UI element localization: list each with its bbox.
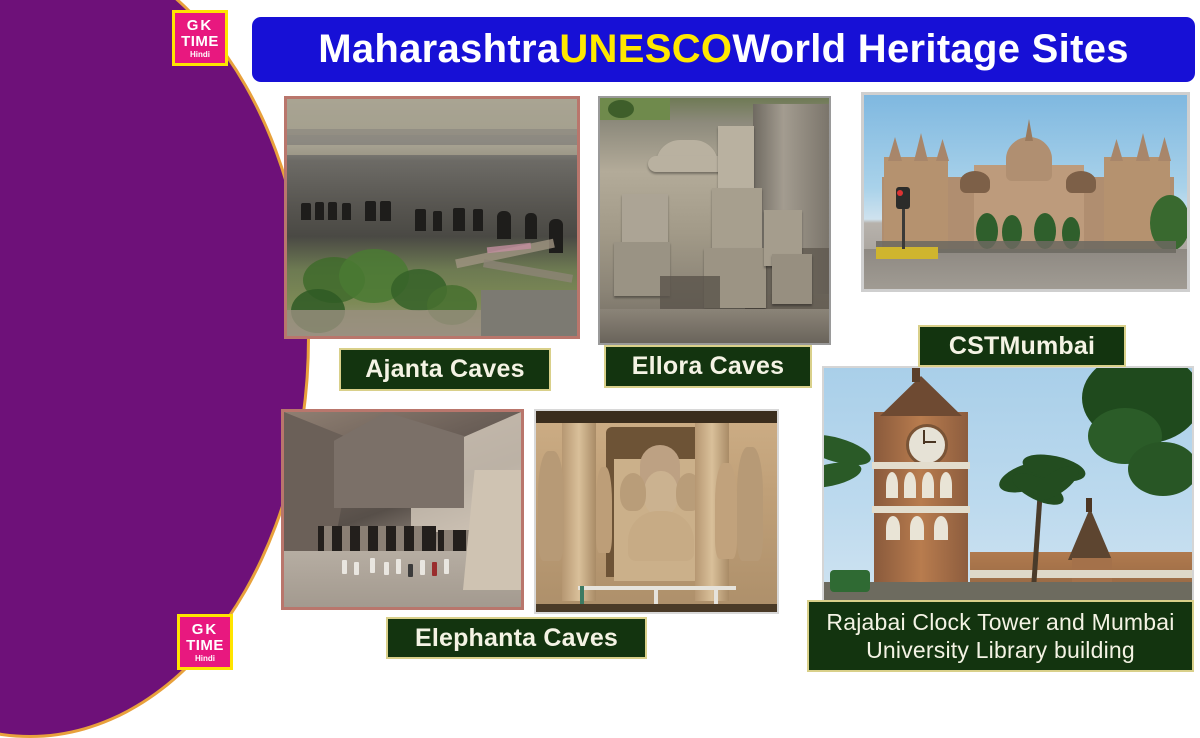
page-title-banner: Maharashtra UNESCO World Heritage Sites [252, 17, 1195, 82]
rajabai-tower-photo [822, 366, 1194, 602]
gk-time-hindi-logo-bottom[interactable]: GK TIME Hindi [177, 614, 233, 670]
ajanta-caves-image-art [287, 99, 577, 336]
elephanta-caves-image-art [284, 412, 521, 607]
caption-ajanta-caves: Ajanta Caves [339, 348, 551, 391]
caption-elephanta-caves: Elephanta Caves [386, 617, 647, 659]
rajabai-tower-image-art [824, 368, 1192, 600]
title-part-unesco: UNESCO [559, 27, 732, 72]
logo-line-gk: GK [187, 18, 214, 33]
logo-line-hindi: Hindi [195, 655, 215, 663]
caption-text: Elephanta Caves [415, 624, 618, 653]
caption-ellora-caves: Ellora Caves [604, 345, 812, 388]
caption-text-cst: CST [949, 332, 1000, 361]
caption-cst-mumbai: CST Mumbai [918, 325, 1126, 367]
caption-text-line2: University Library building [866, 636, 1135, 664]
caption-text: Ajanta Caves [365, 355, 524, 384]
ellora-caves-photo [598, 96, 831, 345]
gk-time-hindi-logo-top[interactable]: GK TIME Hindi [172, 10, 228, 66]
cst-mumbai-photo [861, 92, 1190, 292]
caption-text-mumbai: Mumbai [999, 332, 1095, 361]
title-part-world-heritage-sites: World Heritage Sites [732, 27, 1128, 72]
ajanta-caves-photo [284, 96, 580, 339]
logo-line-hindi: Hindi [190, 51, 210, 59]
cst-mumbai-image-art [864, 95, 1187, 289]
logo-line-time: TIME [186, 638, 224, 653]
trimurti-sculpture-image-art [536, 411, 777, 612]
ellora-caves-image-art [600, 98, 829, 343]
caption-text-line1: Rajabai Clock Tower and Mumbai [826, 608, 1174, 636]
elephanta-caves-photo [281, 409, 524, 610]
caption-rajabai-clock-tower: Rajabai Clock Tower and Mumbai Universit… [807, 600, 1194, 672]
title-part-maharashtra: Maharashtra [318, 27, 559, 72]
caption-text: Ellora Caves [632, 352, 785, 381]
logo-line-time: TIME [181, 34, 219, 49]
trimurti-sculpture-photo [534, 409, 779, 614]
logo-line-gk: GK [192, 622, 219, 637]
